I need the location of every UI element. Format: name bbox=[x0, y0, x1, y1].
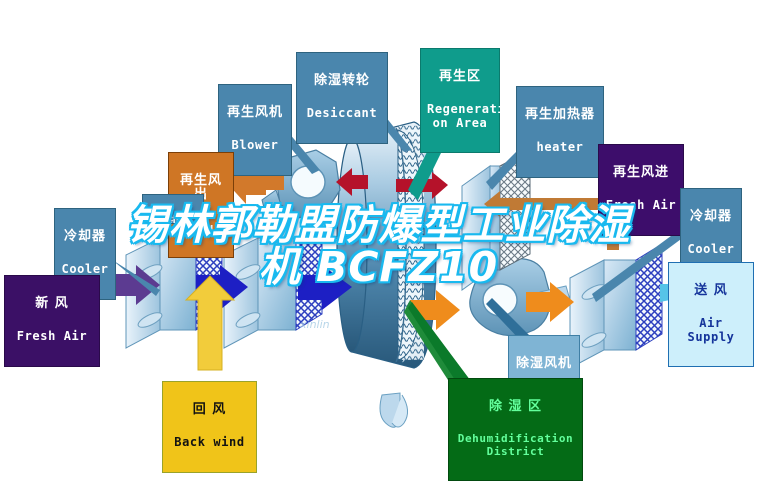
label-dehum-district-cn: 除 湿 区 bbox=[455, 400, 576, 415]
label-regen-blower-en: Blower bbox=[225, 139, 285, 152]
label-back-wind: 回 风 Back wind bbox=[162, 381, 257, 473]
label-back-wind-en: Back wind bbox=[169, 436, 250, 449]
label-cooler-right-cn: 冷却器 bbox=[687, 210, 735, 225]
schematic-canvas: 除湿转轮 Desiccant 再生风机 Blower 再生区 Regenerat… bbox=[0, 0, 757, 488]
label-regen-area: 再生区 Regenerati on Area bbox=[420, 48, 500, 153]
label-regen-heater: 再生加热器 heater bbox=[516, 86, 604, 178]
label-regen-area-cn: 再生区 bbox=[427, 70, 493, 85]
label-dehum-blower-cn: 除湿风机 bbox=[515, 357, 573, 372]
label-regen-area-en: Regenerati on Area bbox=[427, 103, 493, 130]
label-cooler-mid: 冷却器 bbox=[142, 194, 204, 224]
label-regen-heater-cn: 再生加热器 bbox=[523, 108, 597, 123]
label-desiccant-wheel: 除湿转轮 Desiccant bbox=[296, 52, 388, 144]
label-air-supply-en: Air Supply bbox=[675, 317, 747, 344]
label-dehum-district: 除 湿 区 Dehumidification District bbox=[448, 378, 583, 481]
label-cooler-left-cn: 冷却器 bbox=[61, 230, 109, 245]
small-watermark-mark: xinlin bbox=[300, 318, 330, 331]
label-dehum-district-en: Dehumidification District bbox=[455, 433, 576, 458]
label-back-wind-cn: 回 风 bbox=[169, 403, 250, 418]
label-regen-heater-en: heater bbox=[523, 141, 597, 154]
label-regen-blower-cn: 再生风机 bbox=[225, 106, 285, 121]
label-air-supply-cn: 送 风 bbox=[675, 284, 747, 299]
label-cooler-right-en: Cooler bbox=[687, 243, 735, 256]
label-fresh-air-regen-en: Fresh Air bbox=[605, 199, 677, 212]
label-fresh-air-regen: 再生风进 Fresh Air bbox=[598, 144, 684, 236]
label-fresh-air-en: Fresh Air bbox=[11, 330, 93, 343]
label-fresh-air-regen-cn: 再生风进 bbox=[605, 166, 677, 181]
label-air-supply: 送 风 Air Supply bbox=[668, 262, 754, 367]
label-fresh-air: 新 风 Fresh Air bbox=[4, 275, 100, 367]
label-fresh-air-cn: 新 风 bbox=[11, 297, 93, 312]
label-desiccant-wheel-en: Desiccant bbox=[303, 107, 381, 120]
label-cooler-mid-cn: 冷却器 bbox=[149, 216, 197, 224]
label-desiccant-wheel-cn: 除湿转轮 bbox=[303, 74, 381, 89]
